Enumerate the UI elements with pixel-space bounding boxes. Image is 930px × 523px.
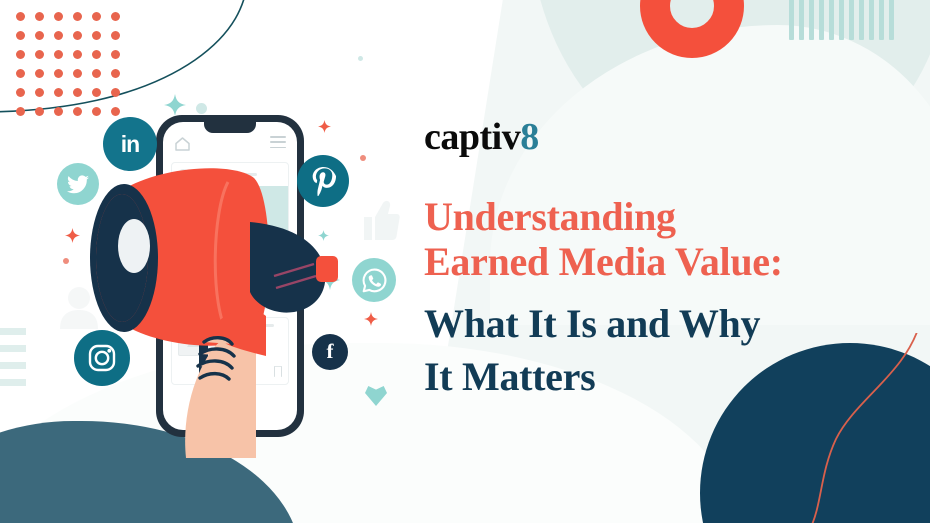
headline-line-2: Earned Media Value: bbox=[424, 240, 894, 285]
left-edge-lines-decoration bbox=[0, 328, 26, 396]
linkedin-label: in bbox=[121, 131, 139, 158]
dot-decoration bbox=[360, 155, 366, 161]
dot-decoration bbox=[63, 258, 69, 264]
pinterest-icon[interactable] bbox=[297, 155, 349, 207]
logo-main-text: captiv bbox=[424, 116, 520, 158]
logo-accent-text: 8 bbox=[520, 116, 539, 158]
facebook-icon[interactable]: f bbox=[312, 334, 348, 370]
twitter-icon[interactable] bbox=[57, 163, 99, 205]
instagram-glyph bbox=[87, 343, 117, 373]
thumbs-up-icon bbox=[360, 200, 400, 242]
hand-and-arm-illustration bbox=[168, 300, 268, 460]
headline-line-1: Understanding bbox=[424, 195, 894, 240]
dot-decoration bbox=[196, 103, 207, 114]
stripe-decoration bbox=[789, 0, 894, 40]
hamburger-menu-icon[interactable] bbox=[270, 136, 286, 151]
pinterest-glyph bbox=[309, 166, 337, 196]
twitter-bird-glyph bbox=[67, 175, 89, 194]
facebook-label: f bbox=[327, 341, 334, 362]
page-subtitle: What It Is and Why It Matters bbox=[424, 297, 894, 404]
linkedin-icon[interactable]: in bbox=[103, 117, 157, 171]
whatsapp-icon[interactable] bbox=[352, 258, 396, 302]
whatsapp-glyph bbox=[362, 268, 387, 293]
sparkle-icon bbox=[164, 94, 186, 116]
phone-notch bbox=[204, 122, 256, 133]
subhead-line-1: What It Is and Why bbox=[424, 297, 894, 351]
subhead-line-2: It Matters bbox=[424, 350, 894, 404]
home-icon[interactable] bbox=[174, 136, 191, 152]
poster-canvas: in f captiv8 Understanding bbox=[0, 0, 930, 523]
sparkle-icon bbox=[364, 312, 378, 326]
dot-decoration bbox=[358, 56, 363, 61]
sparkle-icon bbox=[318, 120, 331, 133]
page-title: Understanding Earned Media Value: bbox=[424, 195, 894, 285]
text-content-column: captiv8 Understanding Earned Media Value… bbox=[424, 118, 894, 404]
captiv8-logo: captiv8 bbox=[424, 118, 894, 156]
instagram-icon[interactable] bbox=[74, 330, 130, 386]
dot-grid-decoration bbox=[16, 12, 120, 116]
